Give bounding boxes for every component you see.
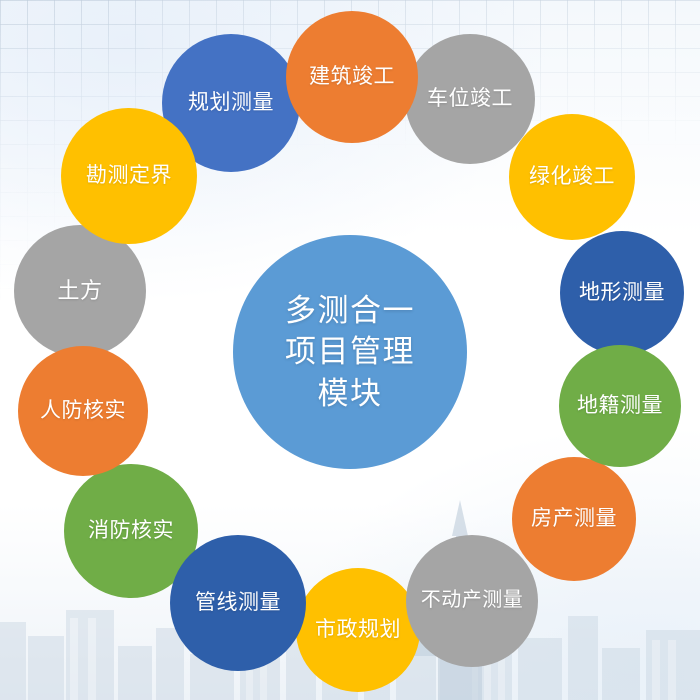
hub-label-line-2: 项目管理 xyxy=(285,334,415,369)
service-circle-lvhua-jungong[interactable]: 绿化竣工 xyxy=(509,114,635,240)
service-circle-label: 建筑竣工 xyxy=(303,65,401,90)
service-circle-label: 绿化竣工 xyxy=(523,165,621,190)
service-circle-label: 车位竣工 xyxy=(421,87,519,112)
service-circle-dixing-celiang[interactable]: 地形测量 xyxy=(560,231,684,355)
service-circle-label: 勘测定界 xyxy=(80,164,178,189)
service-circle-label: 规划测量 xyxy=(182,91,280,116)
service-circle-budongchan-celiang[interactable]: 不动产测量 xyxy=(406,535,538,667)
service-circle-guanxian-celiang[interactable]: 管线测量 xyxy=(170,535,306,671)
service-circle-label: 不动产测量 xyxy=(415,589,530,613)
service-circle-diji-celiang[interactable]: 地籍测量 xyxy=(559,345,681,467)
hub-label-line-1: 多测合一 xyxy=(285,293,415,328)
service-circle-label: 地形测量 xyxy=(573,281,671,306)
hub-label: 多测合一项目管理模块 xyxy=(279,290,421,415)
service-circle-jianzhu-jungong[interactable]: 建筑竣工 xyxy=(286,11,418,143)
service-circle-label: 房产测量 xyxy=(525,507,623,532)
service-circle-label: 人防核实 xyxy=(34,399,132,424)
service-circle-chewei-jungong[interactable]: 车位竣工 xyxy=(405,34,535,164)
service-circle-fangchan-celiang[interactable]: 房产测量 xyxy=(512,457,636,581)
hub-label-line-3: 模块 xyxy=(318,376,383,411)
service-circle-label: 消防核实 xyxy=(82,519,180,544)
service-circle-shizheng-guihua[interactable]: 市政规划 xyxy=(296,568,420,692)
service-circle-tufang[interactable]: 土方 xyxy=(14,225,146,357)
infographic-canvas: 规划测量建筑竣工车位竣工绿化竣工地形测量地籍测量房产测量不动产测量市政规划管线测… xyxy=(0,0,700,700)
service-circle-label: 市政规划 xyxy=(309,618,407,643)
service-circle-label: 地籍测量 xyxy=(571,394,669,419)
service-circle-label: 管线测量 xyxy=(189,591,287,616)
hub-circle-multi-survey-module[interactable]: 多测合一项目管理模块 xyxy=(233,235,467,469)
service-circle-label: 土方 xyxy=(51,278,108,304)
service-circle-renfang-heshi[interactable]: 人防核实 xyxy=(18,346,148,476)
service-circle-kance-dingjie[interactable]: 勘测定界 xyxy=(61,108,197,244)
